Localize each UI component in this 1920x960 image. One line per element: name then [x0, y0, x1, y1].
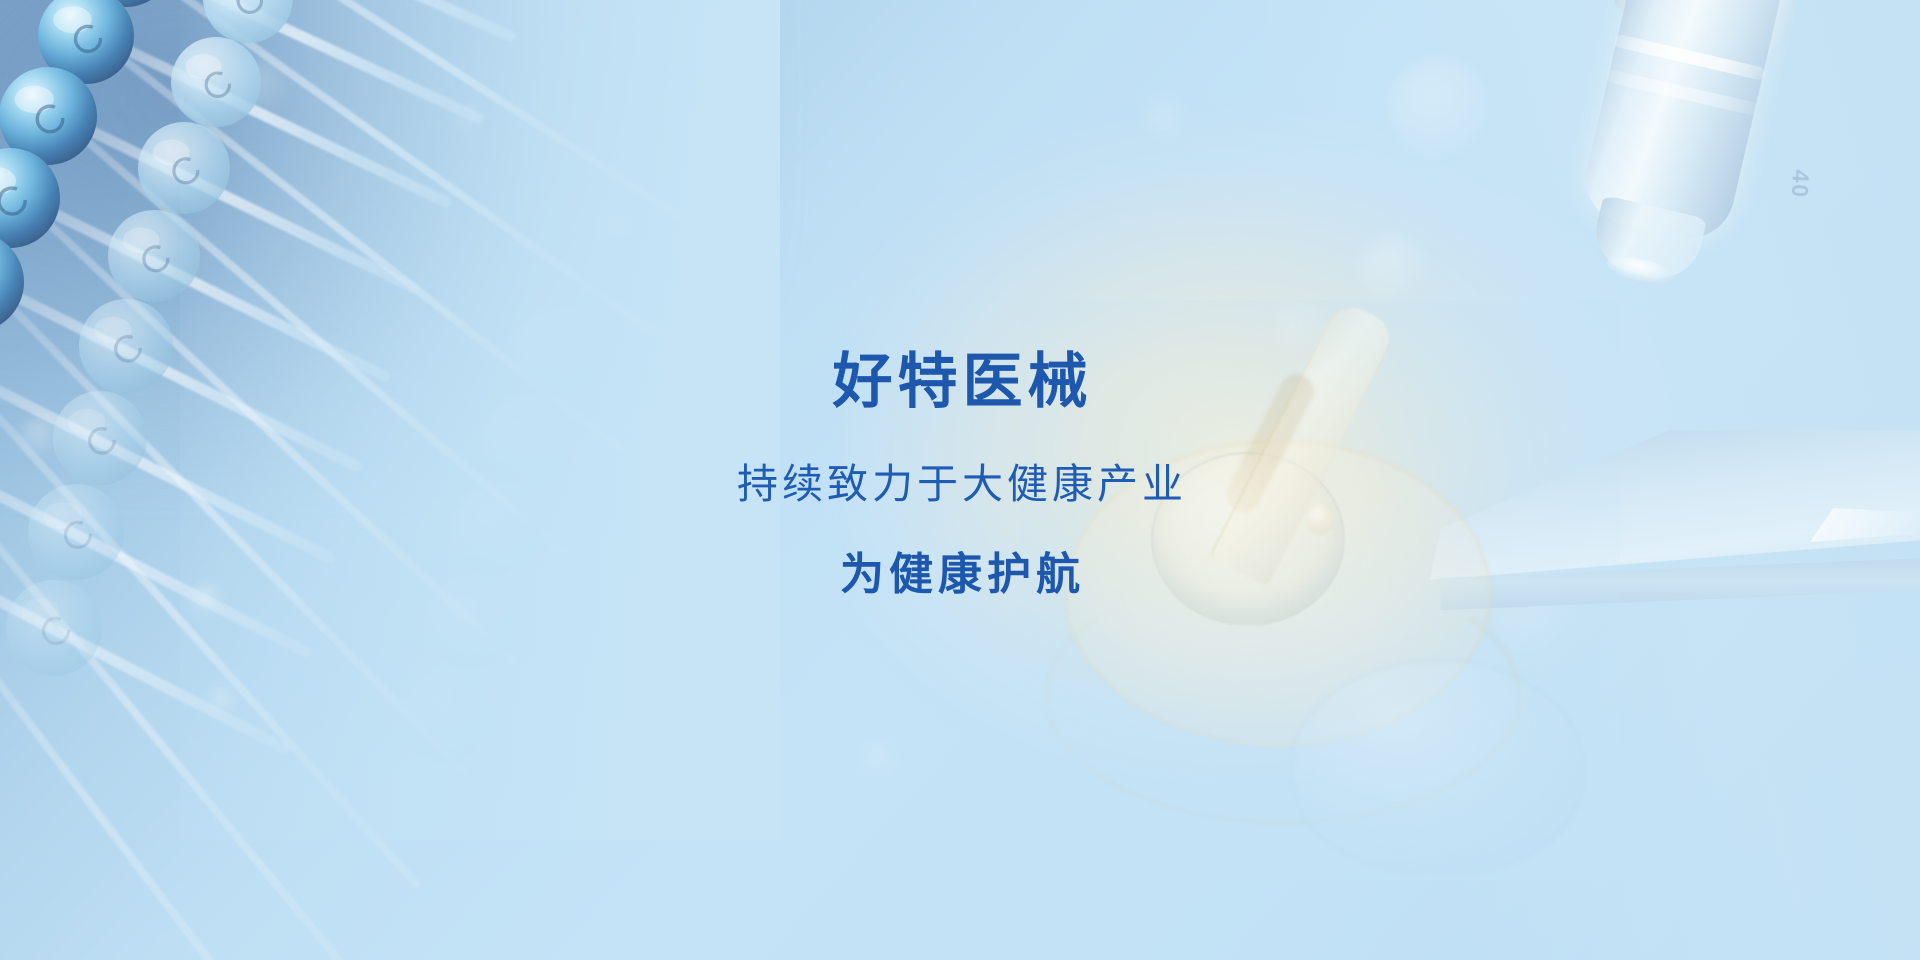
dna-bead-highlight — [94, 317, 132, 343]
dna-nucleotide-bead — [171, 37, 261, 127]
dna-helix-icon — [0, 0, 900, 960]
dna-bead-highlight — [43, 502, 81, 529]
hero-banner: 40 好特医械 持续致力于大健康产业 为健康护航 — [0, 0, 1920, 960]
dna-bead-highlight — [21, 598, 59, 625]
dna-nucleotide-bead — [53, 391, 147, 485]
dna-nucleotide-bead — [28, 484, 124, 580]
dna-bead-highlight — [123, 227, 160, 253]
dna-nucleotide-bead — [203, 0, 293, 43]
dna-bead-highlight — [153, 139, 190, 165]
glass-beaker — [1291, 660, 1585, 874]
dna-nucleotide-bead — [138, 122, 230, 214]
dna-helix-illustration — [0, 0, 900, 960]
dna-ghost-bead — [453, 487, 543, 577]
lens-magnification-label: 40 — [1786, 169, 1815, 200]
liquid-droplet — [1307, 504, 1333, 534]
dna-ghost-bead — [512, 310, 600, 398]
dna-ghost-bead — [426, 578, 518, 670]
dna-bead-highlight — [68, 409, 106, 435]
dna-nucleotide-bead — [6, 580, 102, 676]
dna-nucleotide-bead — [79, 299, 173, 393]
dna-ghost-bead — [481, 397, 571, 487]
dna-bead-highlight — [15, 86, 54, 113]
dna-bead-highlight — [185, 54, 221, 79]
dna-ghost-bead — [402, 672, 494, 764]
petri-dish-and-pipette — [1055, 330, 1575, 850]
dna-nucleotide-bead — [108, 210, 200, 302]
dna-bead-highlight — [53, 6, 91, 33]
